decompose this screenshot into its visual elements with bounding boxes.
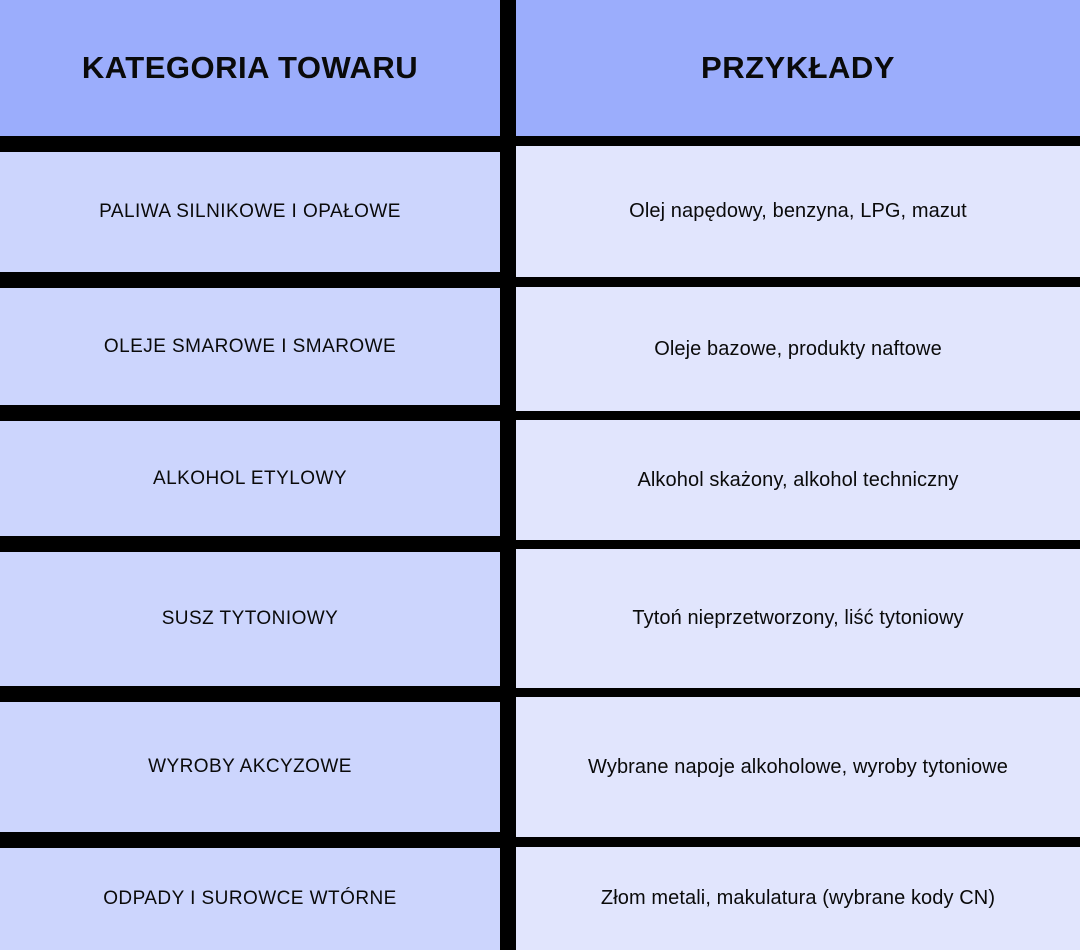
table-row: OLEJE SMAROWE I SMAROWE — [0, 288, 500, 405]
column-header-category: KATEGORIA TOWARU — [0, 0, 500, 136]
examples-label: Tytoń nieprzetworzony, liść tytoniowy — [516, 606, 1080, 630]
examples-label: Złom metali, makulatura (wybrane kody CN… — [516, 886, 1080, 910]
column-header-examples-label: PRZYKŁADY — [516, 49, 1080, 87]
column-header-examples: PRZYKŁADY — [516, 0, 1080, 136]
table-row: Alkohol skażony, alkohol techniczny — [516, 420, 1080, 540]
category-label: SUSZ TYTONIOWY — [0, 607, 500, 630]
table-row: PALIWA SILNIKOWE I OPAŁOWE — [0, 152, 500, 272]
examples-label: Olej napędowy, benzyna, LPG, mazut — [516, 199, 1080, 223]
category-label: OLEJE SMAROWE I SMAROWE — [0, 335, 500, 358]
table-row: Oleje bazowe, produkty naftowe — [516, 287, 1080, 411]
column-header-category-label: KATEGORIA TOWARU — [0, 49, 500, 87]
table-row: ALKOHOL ETYLOWY — [0, 421, 500, 536]
table-row: WYROBY AKCYZOWE — [0, 702, 500, 832]
table-row: SUSZ TYTONIOWY — [0, 552, 500, 686]
table-row: ODPADY I SUROWCE WTÓRNE — [0, 848, 500, 950]
examples-label: Alkohol skażony, alkohol techniczny — [516, 468, 1080, 492]
table-row: Wybrane napoje alkoholowe, wyroby tytoni… — [516, 697, 1080, 837]
category-label: ALKOHOL ETYLOWY — [0, 467, 500, 490]
table-row: Złom metali, makulatura (wybrane kody CN… — [516, 847, 1080, 950]
category-label: WYROBY AKCYZOWE — [0, 755, 500, 778]
goods-category-table: KATEGORIA TOWARU PRZYKŁADY PALIWA SILNIK… — [0, 0, 1080, 950]
examples-label: Wybrane napoje alkoholowe, wyroby tytoni… — [516, 755, 1080, 779]
examples-label: Oleje bazowe, produkty naftowe — [516, 337, 1080, 361]
table-row: Olej napędowy, benzyna, LPG, mazut — [516, 146, 1080, 277]
table-row: Tytoń nieprzetworzony, liść tytoniowy — [516, 549, 1080, 688]
category-label: ODPADY I SUROWCE WTÓRNE — [0, 887, 500, 910]
category-label: PALIWA SILNIKOWE I OPAŁOWE — [0, 200, 500, 223]
